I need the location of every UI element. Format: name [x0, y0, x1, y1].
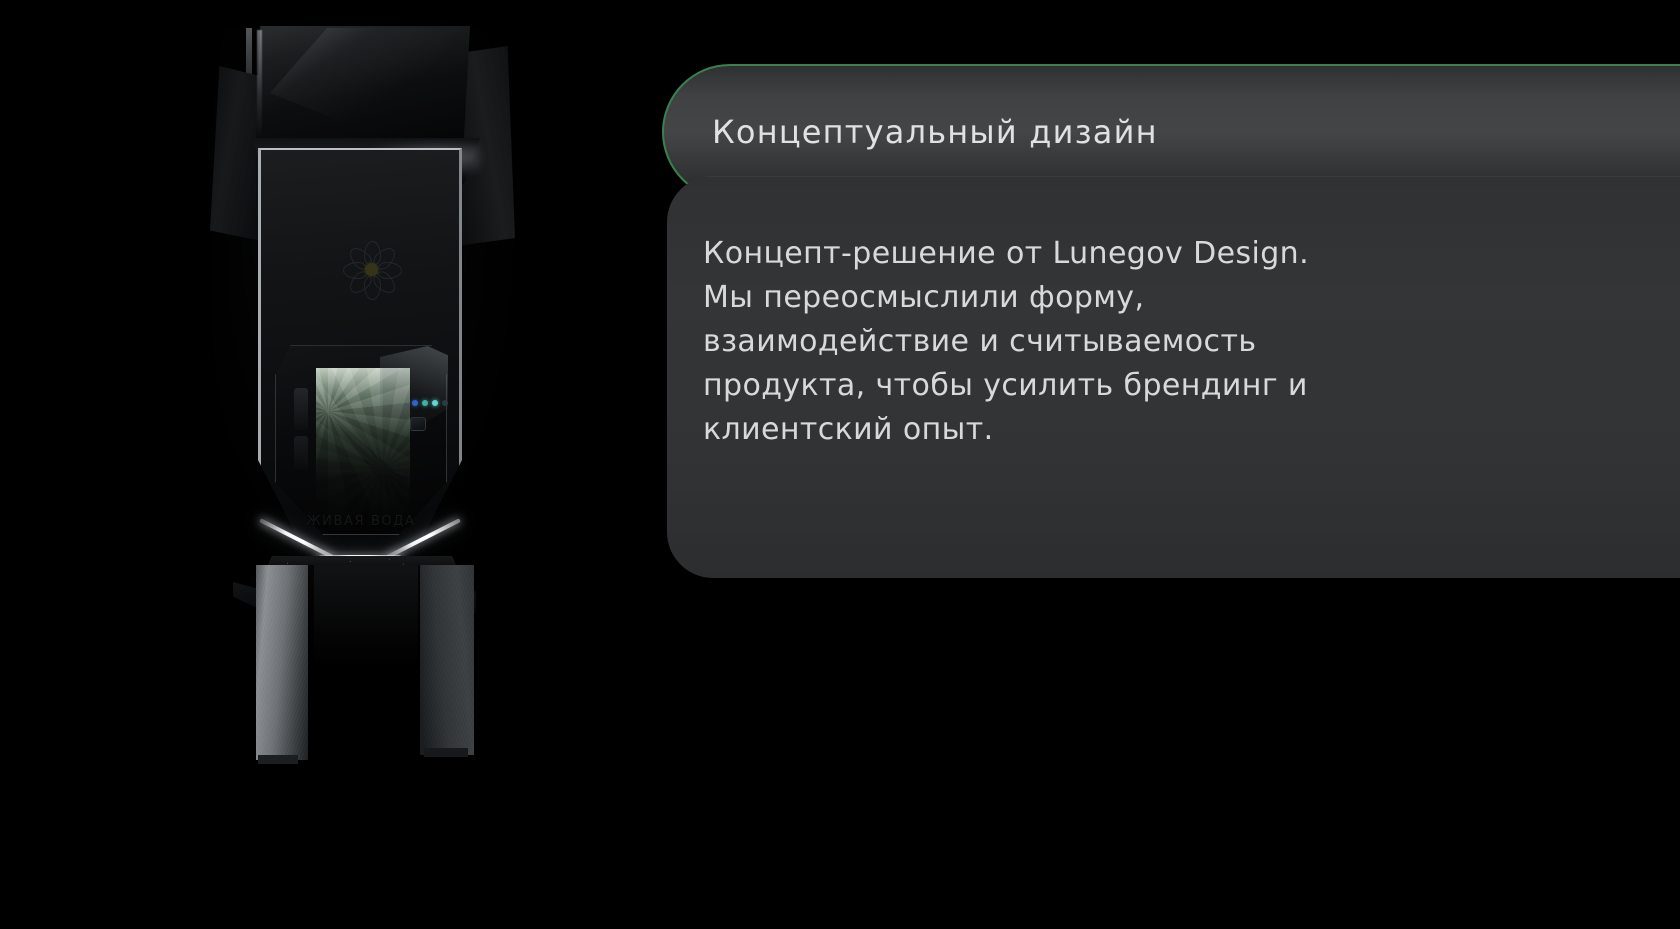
description-text: Концепт-решение от Lunegov Design. Мы пе… — [703, 232, 1463, 452]
led-segment-left — [259, 518, 334, 559]
vent-slot-lower — [294, 436, 308, 470]
led-blue — [412, 400, 418, 406]
kiosk-side-button[interactable] — [410, 417, 426, 431]
led-segment-right — [386, 518, 461, 559]
led-dim — [442, 400, 448, 406]
page-title: Концептуальный дизайн — [712, 113, 1158, 151]
content-panels: Концептуальный дизайн Концепт-решение от… — [662, 0, 1680, 929]
pedestal-foot-right — [424, 748, 468, 757]
hood-left-pillar — [210, 66, 262, 241]
pedestal-panel-right — [420, 565, 474, 755]
vent-slot-upper — [294, 388, 308, 430]
led-cyan — [432, 400, 438, 406]
product-render-image: ЖИВАЯ ВОДА — [0, 0, 640, 929]
pedestal-foot-left — [258, 755, 298, 764]
led-teal — [422, 400, 428, 406]
flower-icon — [340, 238, 402, 300]
led-accent-strip — [256, 498, 464, 560]
pedestal-inner-glow — [314, 565, 418, 685]
status-led-group — [412, 400, 448, 406]
flower-core — [365, 263, 378, 276]
pedestal-panel-left — [256, 565, 308, 760]
description-card: Концепт-решение от Lunegov Design. Мы пе… — [667, 176, 1680, 578]
kiosk-pedestal — [256, 565, 474, 765]
slide-stage: ЖИВАЯ ВОДА Концептуальный дизайн Конце — [0, 0, 1680, 929]
hood-edge-highlight — [257, 30, 262, 140]
